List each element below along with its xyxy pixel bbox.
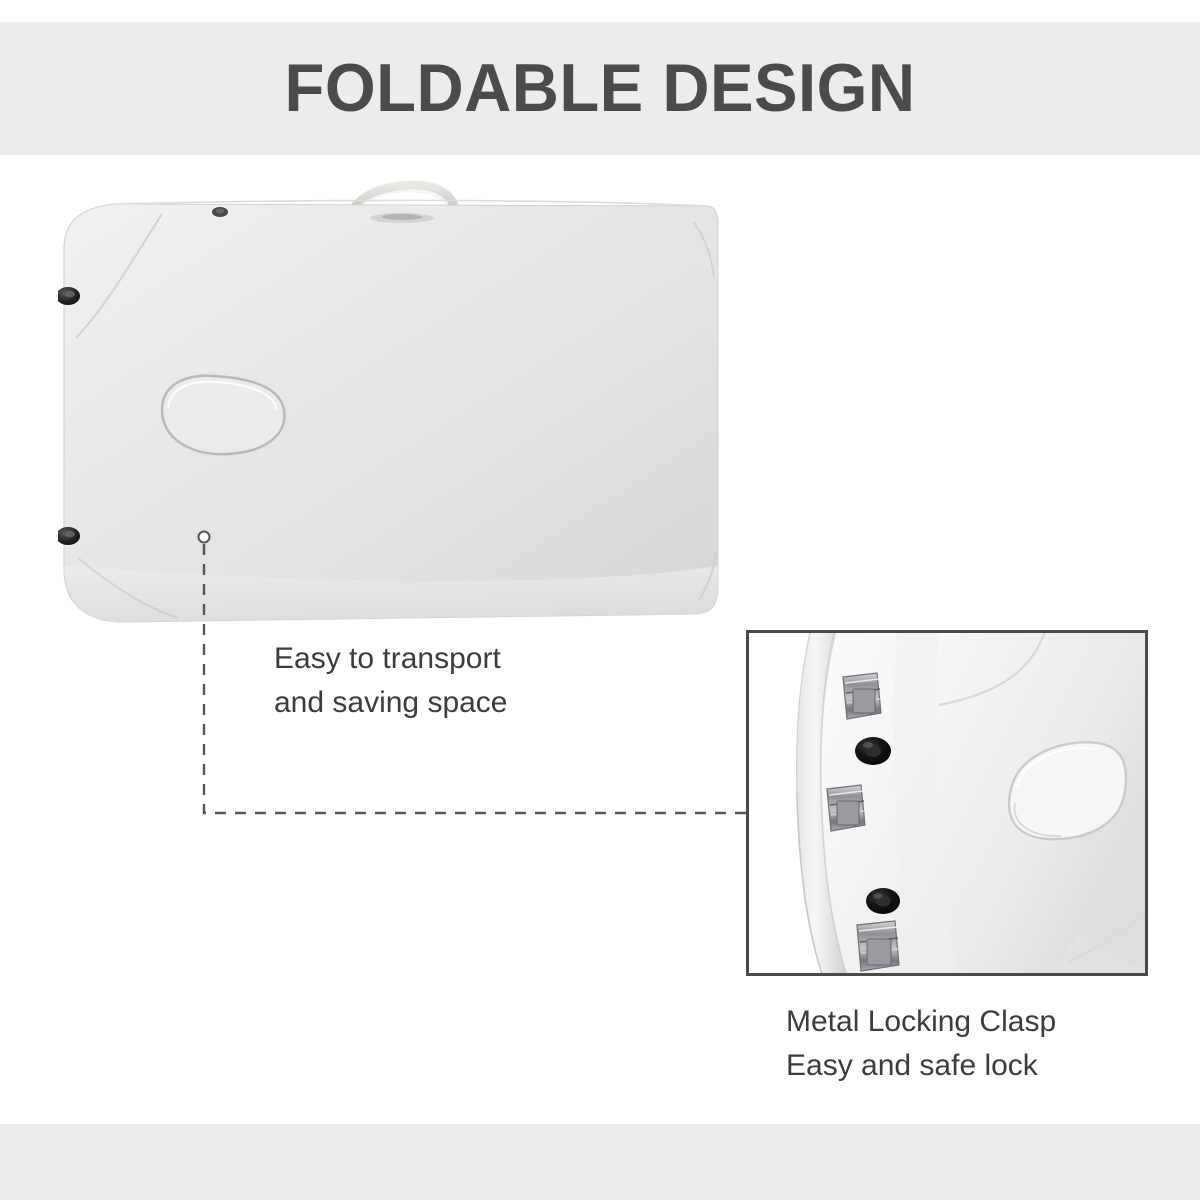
callout-transport-label: Easy to transport and saving space — [274, 637, 704, 725]
inset-detail-photo — [749, 633, 1145, 973]
metal-clasp-top — [843, 673, 881, 719]
product-feature-image: FOLDABLE DESIGN — [0, 0, 1200, 1200]
oval-carry-hole — [162, 376, 284, 454]
rubber-grommet-upper — [855, 737, 891, 765]
page-title: FOLDABLE DESIGN — [24, 44, 1176, 132]
footer-band — [0, 1124, 1200, 1200]
main-product-photo — [58, 170, 722, 626]
metal-clasp-bottom — [857, 921, 899, 971]
rubber-grommet-lower — [866, 888, 900, 914]
inset-detail-caption: Metal Locking Clasp Easy and safe lock — [786, 1000, 1186, 1088]
rivet-top-left — [212, 207, 228, 217]
inset-detail-box — [746, 630, 1148, 976]
metal-clasp-middle — [827, 785, 865, 831]
